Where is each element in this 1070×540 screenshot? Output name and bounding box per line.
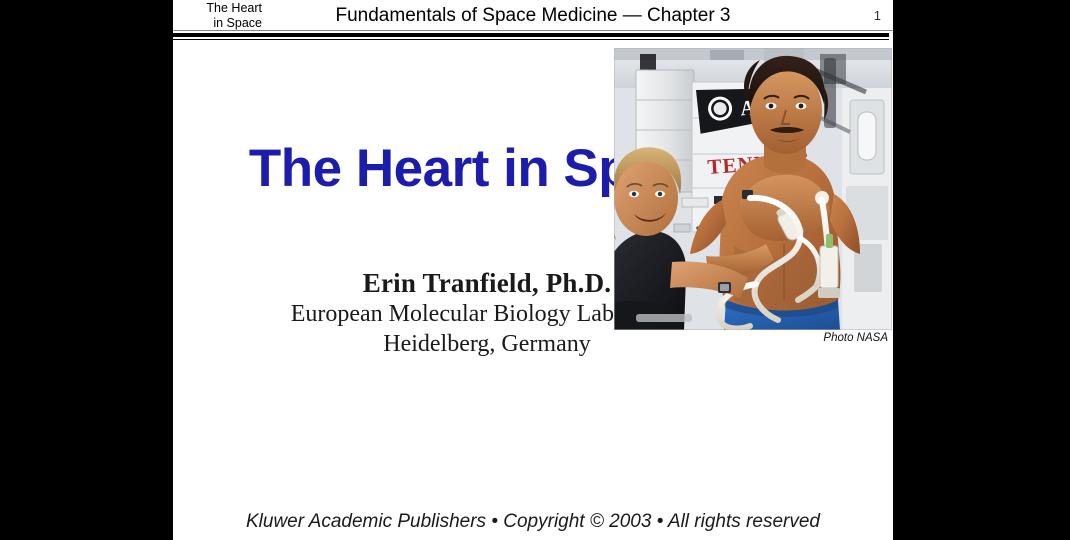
header-divider-hairline — [173, 30, 893, 31]
photo-image: AMER TENNESS — [614, 48, 892, 330]
header-page-number: 1 — [874, 8, 881, 23]
header-divider-rule — [173, 33, 889, 37]
slide-footer-copyright: Kluwer Academic Publishers • Copyright ©… — [173, 511, 893, 533]
header-divider-underline — [173, 39, 889, 40]
presentation-slide: The Heart in Space Fundamentals of Space… — [173, 0, 893, 540]
nasa-photograph: AMER TENNESS — [614, 48, 892, 330]
slide-header: The Heart in Space Fundamentals of Space… — [173, 0, 893, 32]
photo-credit-caption: Photo NASA — [614, 332, 888, 344]
photo-illustration-svg: AMER TENNESS — [614, 48, 892, 330]
header-book-title: Fundamentals of Space Medicine — Chapter… — [173, 5, 893, 27]
screen-letterbox: The Heart in Space Fundamentals of Space… — [0, 0, 1070, 540]
